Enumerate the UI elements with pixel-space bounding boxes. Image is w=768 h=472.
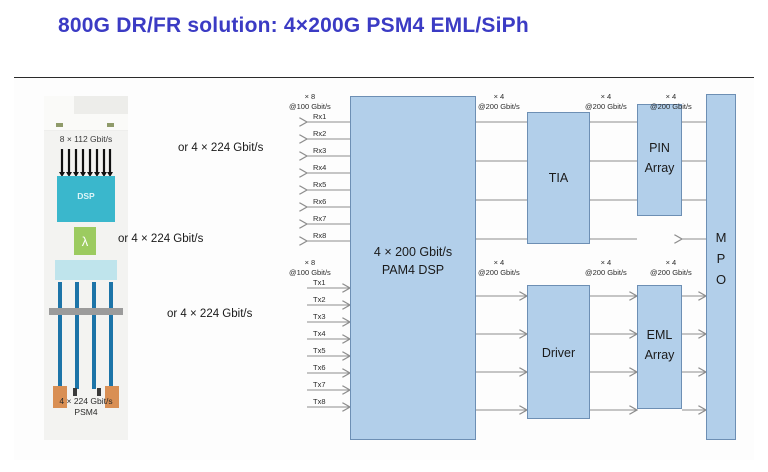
block-tia-label: TIA bbox=[528, 171, 589, 185]
module-dsp-label: DSP bbox=[57, 191, 115, 201]
module-line-type-value: PSM4 bbox=[40, 407, 132, 418]
tx-lane-label: Tx5 bbox=[313, 346, 326, 355]
rx-lane-label: Rx7 bbox=[313, 214, 326, 223]
tx-lane-label: Tx1 bbox=[313, 278, 326, 287]
module-host-rate-label: 8 × 112 Gbit/s bbox=[44, 134, 128, 144]
module-dsp-chip: DSP bbox=[57, 176, 115, 222]
rx-lane-label: Rx8 bbox=[313, 231, 326, 240]
page-title: 800G DR/FR solution: 4×200G PSM4 EML/SiP… bbox=[58, 14, 718, 38]
rx-lane-label: Rx1 bbox=[313, 112, 326, 121]
block-driver: Driver bbox=[527, 285, 590, 419]
block-tia: TIA bbox=[527, 112, 590, 244]
tx-host-rate-count: × 8 bbox=[289, 258, 331, 268]
rx-lane-label: Rx6 bbox=[313, 197, 326, 206]
block-pin-array: PIN Array bbox=[637, 104, 682, 216]
tx-eml-mpo-rate: × 4@200 Gbit/s bbox=[650, 258, 692, 277]
rx-tia-pin-rate-count: × 4 bbox=[585, 92, 627, 102]
module-guide-pin bbox=[97, 388, 101, 396]
tx-eml-mpo-rate-rate: @200 Gbit/s bbox=[650, 268, 692, 278]
rx-dsp-tia-rate: × 4@200 Gbit/s bbox=[478, 92, 520, 111]
rx-pin-mpo-rate-count: × 4 bbox=[650, 92, 692, 102]
module-fiber bbox=[92, 282, 96, 389]
or-rate-tx: or 4 × 224 Gbit/s bbox=[167, 308, 252, 320]
tx-lane-label: Tx7 bbox=[313, 380, 326, 389]
tx-drv-eml-rate-count: × 4 bbox=[585, 258, 627, 268]
tx-lane-label: Tx6 bbox=[313, 363, 326, 372]
block-pam4-dsp: 4 × 200 Gbit/s PAM4 DSP bbox=[350, 96, 476, 440]
rx-host-rate-rate: @100 Gbit/s bbox=[289, 102, 331, 112]
tx-dsp-drv-rate-rate: @200 Gbit/s bbox=[478, 268, 520, 278]
block-dsp-line1: 4 × 200 Gbit/s bbox=[351, 245, 475, 259]
tx-host-rate: × 8@100 Gbit/s bbox=[289, 258, 331, 277]
rx-dsp-tia-rate-count: × 4 bbox=[478, 92, 520, 102]
module-screw-right bbox=[107, 123, 114, 127]
module-screw-left bbox=[56, 123, 63, 127]
block-mpo-connector: MPO bbox=[706, 94, 736, 440]
block-eml-array: EML Array bbox=[637, 285, 682, 409]
module-fiber bbox=[58, 282, 62, 389]
tx-lane-label: Tx2 bbox=[313, 295, 326, 304]
module-lambda-chip: λ bbox=[74, 227, 96, 255]
module-fiber bbox=[75, 282, 79, 389]
tx-dsp-drv-rate-count: × 4 bbox=[478, 258, 520, 268]
module-top-tab bbox=[74, 96, 128, 114]
tx-drv-eml-rate-rate: @200 Gbit/s bbox=[585, 268, 627, 278]
module-bond-wires bbox=[59, 149, 113, 177]
rx-tia-pin-rate-rate: @200 Gbit/s bbox=[585, 102, 627, 112]
or-rate-module: or 4 × 224 Gbit/s bbox=[118, 233, 203, 245]
block-pin-line2: Array bbox=[638, 161, 681, 175]
module-clamp-bar bbox=[49, 308, 123, 315]
module-fiber bbox=[109, 282, 113, 389]
tx-lane-label: Tx3 bbox=[313, 312, 326, 321]
rx-tia-pin-rate: × 4@200 Gbit/s bbox=[585, 92, 627, 111]
block-mpo-label: MPO bbox=[707, 227, 735, 290]
rx-lane-label: Rx2 bbox=[313, 129, 326, 138]
rx-lane-label: Rx5 bbox=[313, 180, 326, 189]
rx-host-rate: × 8@100 Gbit/s bbox=[289, 92, 331, 111]
block-eml-line2: Array bbox=[638, 348, 681, 362]
tx-host-rate-rate: @100 Gbit/s bbox=[289, 268, 331, 278]
or-rate-rx: or 4 × 224 Gbit/s bbox=[178, 142, 263, 154]
block-pin-line1: PIN bbox=[638, 141, 681, 155]
tx-lane-label: Tx8 bbox=[313, 397, 326, 406]
rx-lane-label: Rx4 bbox=[313, 163, 326, 172]
module-line-rate-value: 4 × 224 Gbit/s bbox=[40, 396, 132, 407]
tx-dsp-drv-rate: × 4@200 Gbit/s bbox=[478, 258, 520, 277]
rx-pin-mpo-rate: × 4@200 Gbit/s bbox=[650, 92, 692, 111]
block-driver-label: Driver bbox=[528, 346, 589, 360]
transceiver-module: 8 × 112 Gbit/s DSP λ bbox=[44, 96, 128, 440]
rx-host-rate-count: × 8 bbox=[289, 92, 331, 102]
tx-lane-label: Tx4 bbox=[313, 329, 326, 338]
block-eml-line1: EML bbox=[638, 328, 681, 342]
rx-lane-label: Rx3 bbox=[313, 146, 326, 155]
rx-dsp-tia-rate-rate: @200 Gbit/s bbox=[478, 102, 520, 112]
rx-pin-mpo-rate-rate: @200 Gbit/s bbox=[650, 102, 692, 112]
module-line-rate-label: 4 × 224 Gbit/s PSM4 bbox=[40, 396, 132, 418]
module-optical-bar bbox=[55, 260, 117, 280]
module-guide-pin bbox=[73, 388, 77, 396]
tx-drv-eml-rate: × 4@200 Gbit/s bbox=[585, 258, 627, 277]
tx-eml-mpo-rate-count: × 4 bbox=[650, 258, 692, 268]
block-dsp-line2: PAM4 DSP bbox=[351, 263, 475, 277]
